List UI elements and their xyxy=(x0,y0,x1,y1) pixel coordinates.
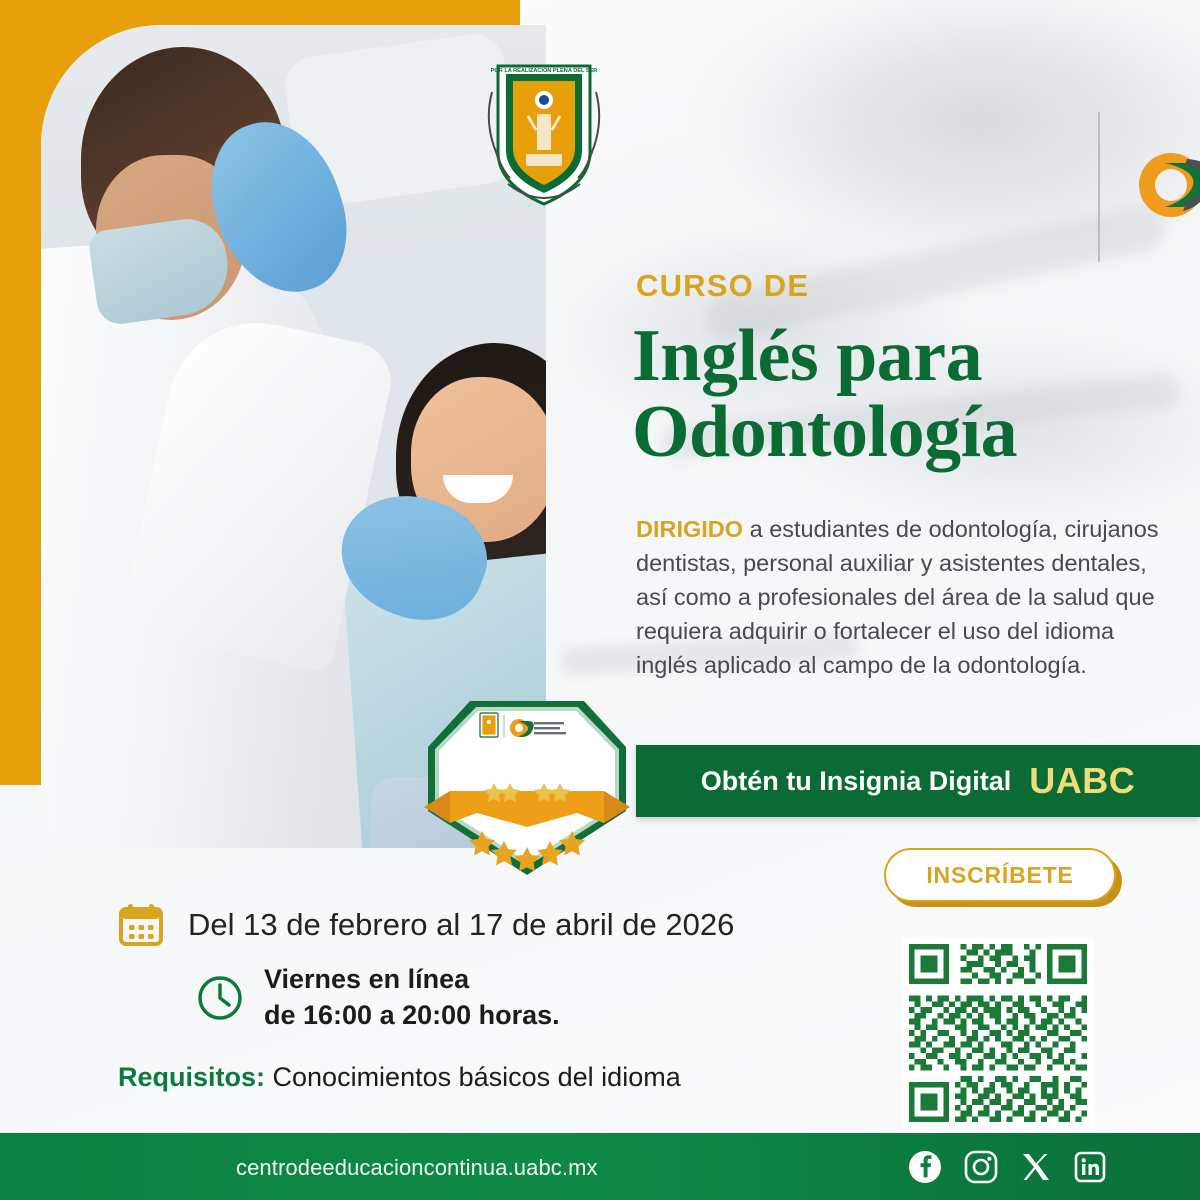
page-title: Inglés para Odontología xyxy=(632,318,1152,470)
requirements-label: Requisitos: xyxy=(118,1062,265,1092)
social-links xyxy=(908,1150,1106,1184)
logo-divider xyxy=(1098,112,1100,262)
svg-text:POR LA REALIZACIÓN PLENA DEL S: POR LA REALIZACIÓN PLENA DEL SER xyxy=(491,66,598,74)
schedule-text: Viernes en línea de 16:00 a 20:00 horas. xyxy=(264,962,560,1033)
linkedin-icon[interactable] xyxy=(1074,1151,1106,1183)
header-logos: POR LA REALIZACIÓN PLENA DEL SER Centro … xyxy=(460,52,1020,217)
cec-mark-icon xyxy=(1135,149,1200,221)
schedule-line-2: de 16:00 a 20:00 horas. xyxy=(264,1000,560,1030)
insignia-banner-text: Obtén tu Insignia Digital xyxy=(701,766,1012,797)
clock-icon xyxy=(196,974,244,1022)
course-kicker: CURSO DE xyxy=(636,268,809,304)
title-line-1: Inglés para xyxy=(632,318,1152,394)
calendar-icon xyxy=(118,902,164,948)
schedule-row: Viernes en línea de 16:00 a 20:00 horas. xyxy=(196,962,560,1033)
website-url[interactable]: centrodeeducacioncontinua.uabc.mx xyxy=(236,1155,598,1181)
cec-logo: Centro de Educación Continua UABC xyxy=(1135,144,1200,226)
instagram-icon[interactable] xyxy=(964,1150,998,1184)
date-row: Del 13 de febrero al 17 de abril de 2026 xyxy=(118,902,734,948)
title-line-2: Odontología xyxy=(632,394,1152,470)
description-lead: DIRIGIDO xyxy=(636,516,743,542)
course-description: DIRIGIDO a estudiantes de odontología, c… xyxy=(636,512,1176,682)
insignia-banner: Obtén tu Insignia Digital UABC xyxy=(636,745,1200,817)
inscribete-button[interactable]: INSCRÍBETE xyxy=(884,848,1116,902)
poster-root: POR LA REALIZACIÓN PLENA DEL SER Centro … xyxy=(0,0,1200,1200)
requirements-value: Conocimientos básicos del idioma xyxy=(265,1062,681,1092)
schedule-line-1: Viernes en línea xyxy=(264,964,469,994)
digital-badge-icon xyxy=(422,695,632,880)
uabc-seal-icon: POR LA REALIZACIÓN PLENA DEL SER xyxy=(480,52,608,212)
requirements-row: Requisitos: Conocimientos básicos del id… xyxy=(118,1062,681,1093)
insignia-banner-highlight: UABC xyxy=(1029,760,1135,802)
inscribete-button-wrap[interactable]: INSCRÍBETE xyxy=(884,848,1120,904)
course-dates: Del 13 de febrero al 17 de abril de 2026 xyxy=(188,907,734,943)
facebook-icon[interactable] xyxy=(908,1150,942,1184)
x-twitter-icon[interactable] xyxy=(1020,1151,1052,1183)
qr-code[interactable] xyxy=(903,938,1093,1128)
